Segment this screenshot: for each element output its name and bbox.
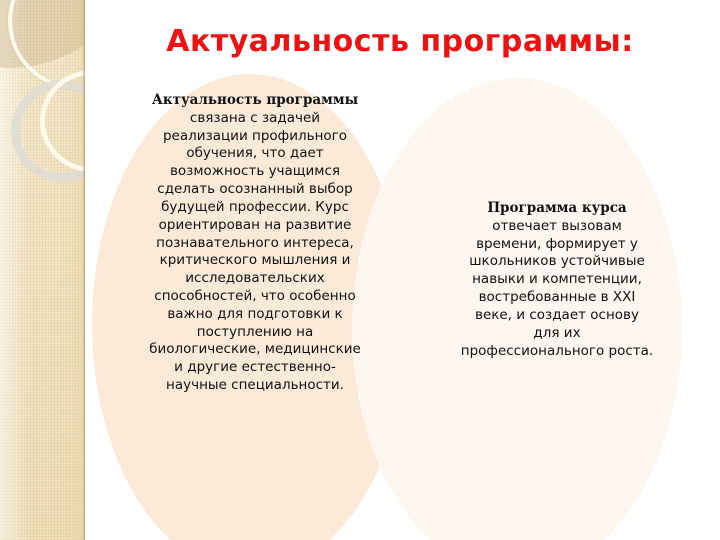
venn-left-text: Актуальность программы связана с задачей… — [148, 92, 362, 395]
venn-right-text: Программа курса отвечает вызовам времени… — [460, 200, 654, 360]
page-title: Актуальность программы: — [110, 25, 690, 58]
venn-right-lead: Программа курса — [487, 200, 626, 216]
presentation-slide: Актуальность программы: Актуальность про… — [0, 0, 720, 540]
venn-right-body: отвечает вызовам времени, формирует у шк… — [461, 218, 653, 359]
venn-left-lead: Актуальность программы — [152, 92, 358, 108]
decorative-sidebar — [0, 0, 85, 540]
venn-left-body: связана с задачей реализации профильного… — [149, 110, 361, 393]
sidebar-edge-line — [83, 0, 85, 540]
